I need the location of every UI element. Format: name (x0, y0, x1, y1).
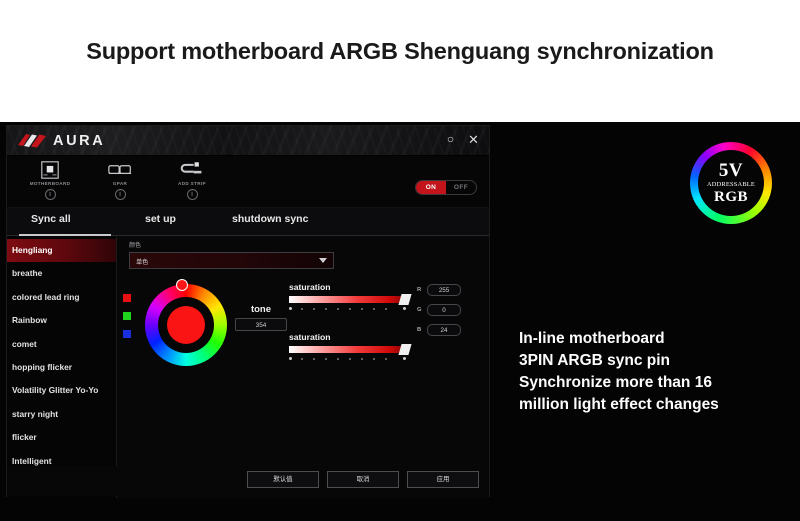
power-toggle[interactable]: ON OFF (415, 180, 477, 195)
minimize-icon[interactable]: ○ (442, 131, 459, 148)
saturation-label: saturation (289, 282, 407, 292)
selected-color-preview (167, 306, 205, 344)
swatch-red[interactable] (123, 294, 131, 302)
slider-ticks (289, 356, 407, 364)
effect-settings-panel: 颜色 单色 (117, 236, 489, 498)
device-gpar[interactable]: GPAR i (85, 160, 155, 200)
motherboard-icon (15, 160, 85, 180)
rgb-input-g[interactable]: 0 (427, 304, 461, 316)
chevron-down-icon[interactable] (319, 258, 327, 263)
badge-addressable: ADDRESSABLE (707, 182, 755, 188)
effect-item-volatility-glitter-yo-yo[interactable]: Volatility Glitter Yo-Yo (7, 379, 116, 402)
default-button[interactable]: 默认值 (247, 471, 319, 488)
rgb-row-r: R 255 (417, 284, 461, 296)
caption-line-2: 3PIN ARGB sync pin (519, 350, 789, 372)
info-bulb-icon[interactable]: i (187, 189, 198, 200)
rgb-channel-label: B (417, 327, 427, 333)
led-strip-icon (157, 160, 227, 180)
tone-input[interactable]: 354 (235, 318, 287, 331)
device-label: GPAR (85, 181, 155, 186)
device-motherboard[interactable]: MOTHERBOARD i (15, 160, 85, 200)
saturation-slider-1[interactable] (289, 296, 407, 303)
close-icon[interactable]: ✕ (465, 131, 482, 148)
swatch-blue[interactable] (123, 330, 131, 338)
rgb-row-b: B 24 (417, 324, 461, 336)
app-footer: 默认值 取消 应用 (7, 466, 489, 496)
rgb-row-g: G 0 (417, 304, 461, 316)
tone-control: tone 354 (235, 304, 287, 331)
device-label: MOTHERBOARD (15, 181, 85, 186)
gpu-icon (85, 160, 155, 180)
tone-label: tone (235, 304, 287, 315)
info-bulb-icon[interactable]: i (45, 189, 56, 200)
apply-button[interactable]: 应用 (407, 471, 479, 488)
effect-item-starry-night[interactable]: starry night (7, 403, 116, 426)
toggle-on-segment[interactable]: ON (416, 181, 446, 194)
tab-sync-all[interactable]: Sync all (31, 213, 71, 236)
hue-knob[interactable] (176, 279, 188, 291)
page-title: Support motherboard ARGB Shenguang synch… (0, 38, 800, 65)
app-brand-label: AURA (53, 133, 105, 149)
rgb-channel-label: G (417, 307, 427, 313)
color-swatch-group (123, 294, 131, 348)
slider-handle[interactable] (398, 294, 411, 305)
addressable-rgb-badge: 5V ADDRESSABLE RGB (690, 142, 772, 224)
effect-item-breathe[interactable]: breathe (7, 262, 116, 285)
page-root: Support motherboard ARGB Shenguang synch… (0, 0, 800, 521)
info-bulb-icon[interactable]: i (115, 189, 126, 200)
effect-item-hengliang[interactable]: Hengliang (7, 239, 116, 262)
color-mode-dropdown[interactable]: 单色 (129, 252, 334, 269)
color-wheel[interactable] (145, 284, 227, 366)
effect-item-colored-lead-ring[interactable]: colored lead ring (7, 286, 116, 309)
rog-eye-logo-icon (17, 132, 47, 150)
device-add-strip[interactable]: ADD STRIP i (157, 160, 227, 200)
slider-ticks (289, 306, 407, 314)
device-selector-row: MOTHERBOARD i GPAR i (7, 156, 489, 208)
effect-item-flicker[interactable]: flicker (7, 426, 116, 449)
badge-text: 5V ADDRESSABLE RGB (690, 142, 772, 224)
toggle-off-segment[interactable]: OFF (446, 181, 476, 194)
tab-shutdown-sync[interactable]: shutdown sync (232, 213, 308, 236)
swatch-green[interactable] (123, 312, 131, 320)
rgb-channel-label: R (417, 287, 427, 293)
saturation-label: saturation (289, 332, 407, 342)
tab-bar: Sync all set up shutdown sync (7, 208, 489, 236)
saturation-slider-2[interactable] (289, 346, 407, 353)
caption-line-1: In-line motherboard (519, 328, 789, 350)
saturation-group-2: saturation (289, 332, 407, 364)
aura-app-window: AURA ○ ✕ MOTHERBOARD i (6, 125, 490, 497)
effect-item-hopping-flicker[interactable]: hopping flicker (7, 356, 116, 379)
badge-rgb: RGB (714, 190, 748, 205)
app-titlebar: AURA ○ ✕ (7, 126, 489, 156)
color-field-label: 颜色 (129, 240, 141, 249)
effect-list: Hengliang breathe colored lead ring Rain… (7, 236, 117, 498)
cancel-button[interactable]: 取消 (327, 471, 399, 488)
app-body: Hengliang breathe colored lead ring Rain… (7, 236, 489, 498)
feature-caption: In-line motherboard 3PIN ARGB sync pin S… (519, 328, 789, 416)
slider-handle[interactable] (398, 344, 411, 355)
tab-set-up[interactable]: set up (145, 213, 176, 236)
product-stage: AURA ○ ✕ MOTHERBOARD i (0, 122, 800, 521)
color-mode-value: 单色 (136, 257, 148, 266)
device-label: ADD STRIP (157, 181, 227, 186)
effect-item-comet[interactable]: comet (7, 333, 116, 356)
effect-item-rainbow[interactable]: Rainbow (7, 309, 116, 332)
badge-voltage: 5V (719, 161, 743, 180)
caption-line-3: Synchronize more than 16 (519, 372, 789, 394)
rgb-input-r[interactable]: 255 (427, 284, 461, 296)
caption-line-4: million light effect changes (519, 394, 789, 416)
rgb-value-group: R 255 G 0 B 24 (417, 284, 461, 344)
saturation-group-1: saturation (289, 282, 407, 314)
rgb-input-b[interactable]: 24 (427, 324, 461, 336)
